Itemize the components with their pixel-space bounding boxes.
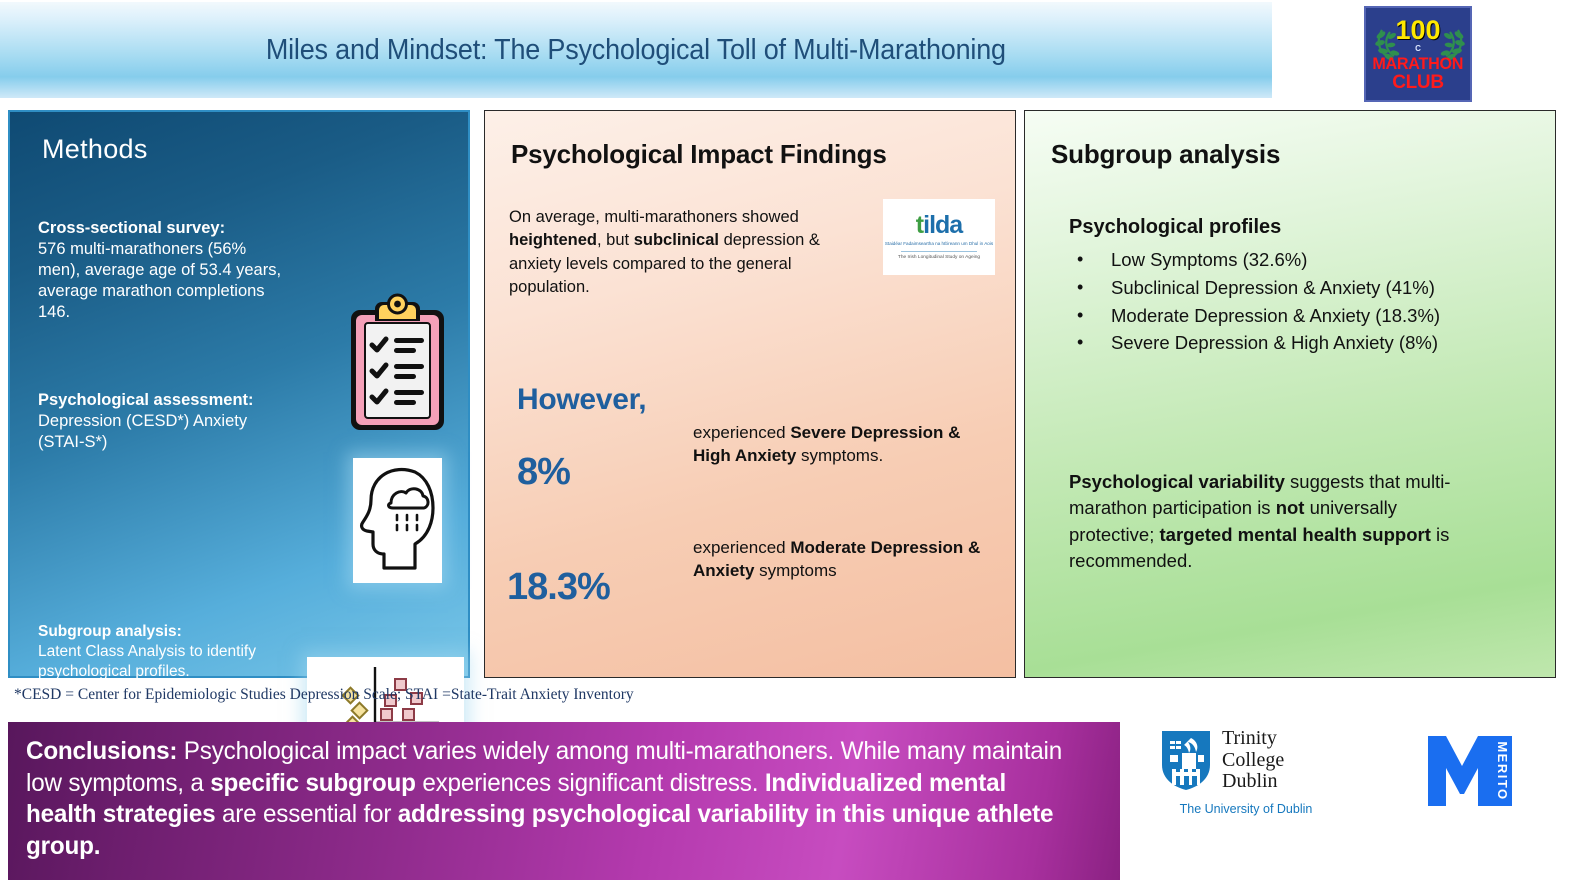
- trinity-shield-icon: [1160, 729, 1212, 791]
- title-banner: Miles and Mindset: The Psychological Tol…: [0, 2, 1272, 98]
- merito-wordmark: MERITO: [1495, 741, 1510, 800]
- tilda-irish-tagline: Staidéar Fadaimseartha na hÉireann um Dh…: [885, 241, 993, 247]
- list-item: Moderate Depression & Anxiety (18.3%): [1069, 303, 1489, 330]
- trinity-college-dublin-logo: Trinity College Dublin The University of…: [1160, 728, 1332, 828]
- stat-value-moderate: 18.3%: [507, 566, 610, 609]
- methods-heading: Methods: [42, 134, 148, 165]
- club-logo-club-text: CLUB: [1392, 73, 1444, 93]
- methods-block-subgroup-lead: Subgroup analysis:: [38, 622, 288, 642]
- trinity-wordmark: Trinity College Dublin: [1222, 728, 1284, 793]
- trinity-logo-row: Trinity College Dublin: [1160, 728, 1332, 793]
- findings-lead-text: On average, multi-marathoners showed hei…: [509, 206, 864, 300]
- methods-block-survey: Cross-sectional survey: 576 multi-marath…: [38, 218, 288, 324]
- merito-logo-glyph: MERITO: [1424, 732, 1516, 810]
- marathon-club-logo: 100 C MARATHON CLUB: [1364, 6, 1472, 102]
- methods-block-assessment-body: Depression (CESD*) Anxiety (STAI-S*): [38, 412, 247, 451]
- poster-canvas: Miles and Mindset: The Psychological Tol…: [0, 0, 1577, 886]
- trinity-tagline: The University of Dublin: [1160, 802, 1332, 816]
- club-logo-marathon-text: MARATHON: [1373, 55, 1464, 73]
- head-rain-cloud-glyph: [353, 458, 442, 583]
- list-item: Low Symptoms (32.6%): [1069, 247, 1489, 274]
- tilda-wordmark: tilda: [916, 213, 962, 238]
- merito-logo: MERITO: [1424, 732, 1516, 810]
- conclusions-text: Conclusions: Psychological impact varies…: [26, 736, 1068, 862]
- methods-block-assessment: Psychological assessment: Depression (CE…: [38, 390, 288, 453]
- methods-block-survey-lead: Cross-sectional survey:: [38, 218, 288, 239]
- conclusions-banner: Conclusions: Psychological impact varies…: [8, 722, 1120, 880]
- methods-block-subgroup-body: Latent Class Analysis to identify psycho…: [38, 643, 256, 680]
- trinity-line-3: Dublin: [1222, 771, 1284, 793]
- subgroup-panel: Subgroup analysis Psychological profiles…: [1024, 110, 1556, 678]
- methods-block-subgroup: Subgroup analysis: Latent Class Analysis…: [38, 622, 288, 681]
- clipboard-checklist-icon: [346, 288, 449, 436]
- list-item: Severe Depression & High Anxiety (8%): [1069, 330, 1489, 357]
- findings-panel: Psychological Impact Findings On average…: [484, 110, 1016, 678]
- head-rain-cloud-icon: [353, 458, 442, 583]
- profiles-heading: Psychological profiles: [1069, 216, 1281, 239]
- however-label: However,: [517, 383, 646, 417]
- methods-panel: Methods Cross-sectional survey: 576 mult…: [8, 110, 470, 678]
- tilda-letters-lda: lda: [929, 211, 962, 239]
- methods-block-survey-body: 576 multi-marathoners (56% men), average…: [38, 240, 281, 321]
- subgroup-heading: Subgroup analysis: [1051, 139, 1280, 170]
- tilda-english-tagline: The Irish Longitudinal Study on Ageing: [898, 255, 980, 261]
- club-logo-number: 100: [1395, 17, 1440, 44]
- findings-heading: Psychological Impact Findings: [511, 139, 887, 170]
- tilda-logo: tilda Staidéar Fadaimseartha na hÉireann…: [883, 199, 995, 275]
- methods-block-assessment-lead: Psychological assessment:: [38, 390, 288, 411]
- trinity-line-1: Trinity: [1222, 728, 1284, 750]
- stat-text-moderate: experienced Moderate Depression & Anxiet…: [693, 536, 993, 583]
- variability-text: Psychological variability suggests that …: [1069, 469, 1469, 574]
- list-item: Subclinical Depression & Anxiety (41%): [1069, 275, 1489, 302]
- tilda-divider: [901, 251, 977, 252]
- stat-value-severe: 8%: [517, 451, 570, 494]
- trinity-line-2: College: [1222, 750, 1284, 772]
- poster-title: Miles and Mindset: The Psychological Tol…: [266, 34, 1006, 67]
- club-logo-c-mark: C: [1415, 45, 1421, 53]
- profiles-list: Low Symptoms (32.6%) Subclinical Depress…: [1069, 247, 1489, 358]
- abbreviation-footnote: *CESD = Center for Epidemiologic Studies…: [14, 686, 634, 704]
- stat-text-severe: experienced Severe Depression & High Anx…: [693, 421, 993, 468]
